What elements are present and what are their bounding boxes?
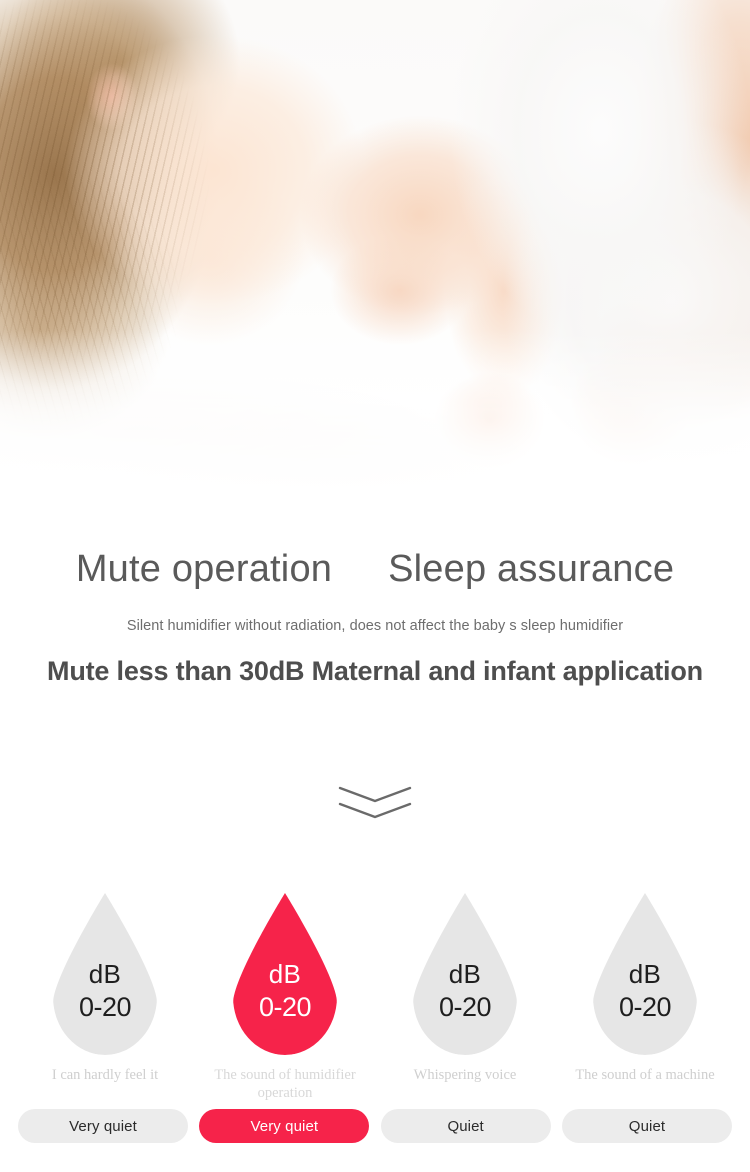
droplet-unit-label: dB [449,961,481,987]
headline-row: Mute operation Sleep assurance [0,520,750,592]
scroll-down-divider [0,784,750,822]
droplet-range-label: 0-20 [79,994,131,1021]
pill-badge-2: Quiet [381,1109,551,1143]
droplet-0: dB 0-20 [53,893,157,1055]
droplet-caption: The sound of a machine [555,1066,735,1100]
droplet-caption: The sound of humidifier operation [195,1066,375,1102]
noise-level-item: dB 0-20 I can hardly feel it [22,893,188,1102]
pill-badge-3: Quiet [562,1109,732,1143]
headline-sleep-assurance: Sleep assurance [388,548,674,592]
subline-text: Silent humidifier without radiation, doe… [0,618,750,634]
marketing-copy-block: Mute operation Sleep assurance Silent hu… [0,520,750,687]
noise-level-item: dB 0-20 The sound of humidifier operatio… [202,893,368,1102]
droplet-2: dB 0-20 [413,893,517,1055]
droplet-3: dB 0-20 [593,893,697,1055]
pill-badge-1: Very quiet [199,1109,369,1143]
noise-level-item: dB 0-20 The sound of a machine [562,893,728,1102]
droplet-caption: I can hardly feel it [15,1066,195,1100]
photo-white-fade-overlay [0,330,750,520]
droplet-range-label: 0-20 [439,994,491,1021]
pill-badge-0: Very quiet [18,1109,188,1143]
droplet-range-label: 0-20 [619,994,671,1021]
double-chevron-down-icon [337,784,413,822]
droplet-unit-label: dB [89,961,121,987]
hero-photo-banner [0,0,750,520]
noise-level-droplet-row: dB 0-20 I can hardly feel it dB 0-20 The… [0,893,750,1102]
tagline-text: Mute less than 30dB Maternal and infant … [0,656,750,687]
droplet-range-label: 0-20 [259,994,311,1021]
droplet-1: dB 0-20 [233,893,337,1055]
droplet-unit-label: dB [269,961,301,987]
droplet-caption: Whispering voice [375,1066,555,1100]
noise-level-item: dB 0-20 Whispering voice [382,893,548,1102]
noise-level-pill-row: Very quiet Very quiet Quiet Quiet [0,1109,750,1143]
headline-mute-operation: Mute operation [76,548,332,592]
droplet-unit-label: dB [629,961,661,987]
